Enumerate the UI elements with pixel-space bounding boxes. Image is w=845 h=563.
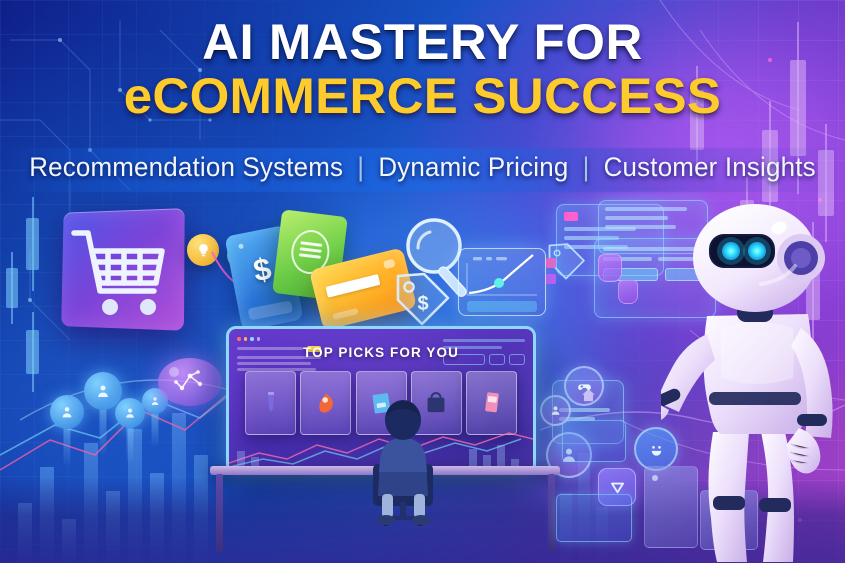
- shopping-cart-icon: [62, 215, 182, 325]
- product-card-4[interactable]: [411, 371, 462, 435]
- floor-gradient: [0, 477, 845, 563]
- server-box-2: [700, 490, 758, 550]
- smiley-icon: [646, 439, 667, 460]
- server-box-1: [644, 466, 698, 548]
- dollar-card-icon: $: [224, 225, 303, 331]
- mini-node-2: [618, 280, 638, 304]
- holo-panel-home: [552, 380, 624, 444]
- headline-line-2: eCOMMERCE SUCCESS: [0, 70, 845, 122]
- tagline-item-2: Dynamic Pricing: [378, 152, 568, 182]
- shopping-cart-card: [61, 208, 184, 331]
- user-icon: [559, 445, 579, 465]
- user-icon: [549, 404, 562, 417]
- background-screen-1: [562, 420, 626, 462]
- check-badge-icon: [608, 478, 627, 497]
- background-screen-2: [556, 494, 632, 542]
- gamepad-icon: [576, 378, 593, 395]
- price-tag-icon: $: [390, 268, 454, 332]
- avatar-pin-3: [115, 398, 145, 460]
- banknote-icon: [272, 209, 348, 300]
- tagline-item-3: Customer Insights: [604, 152, 816, 182]
- tagline-separator-2: |: [576, 152, 596, 182]
- network-icon: [158, 358, 222, 406]
- smiley-badge: [634, 427, 678, 471]
- user-badge-large: [546, 432, 592, 478]
- desk-leg-left: [216, 474, 223, 552]
- headline-line-1: AI MASTERY FOR: [0, 16, 845, 68]
- gold-card-icon: [309, 247, 417, 330]
- avatar-pin-1: [50, 395, 84, 461]
- product-card-2[interactable]: [300, 371, 351, 435]
- svg-text:$: $: [417, 293, 428, 315]
- ai-ecommerce-banner: AI MASTERY FOR eCOMMERCE SUCCESS Recomme…: [0, 0, 845, 563]
- avatar-pin-4: [142, 388, 168, 444]
- monitor-screen-title: TOP PICKS FOR YOU: [229, 345, 533, 360]
- growth-chart-panel: [458, 248, 546, 316]
- tagline-separator-1: |: [351, 152, 371, 182]
- tagline: Recommendation Systems | Dynamic Pricing…: [17, 152, 828, 183]
- product-card-1[interactable]: [245, 371, 296, 435]
- network-bubble: [158, 358, 222, 406]
- chart-legend-swatch-1: [546, 258, 556, 268]
- product-card-row: [245, 371, 517, 435]
- mini-node-1: [598, 254, 622, 282]
- home-icon: [580, 387, 597, 404]
- holo-panel-3: [594, 238, 716, 318]
- desk-leg-right: [548, 474, 555, 552]
- product-card-5[interactable]: [466, 371, 517, 435]
- gamepad-badge: [564, 366, 604, 406]
- headline-block: AI MASTERY FOR eCOMMERCE SUCCESS: [0, 16, 845, 122]
- chart-legend-swatch-2: [546, 274, 556, 284]
- product-card-3[interactable]: [356, 371, 407, 435]
- robot-icon: [661, 196, 845, 563]
- recommendation-monitor[interactable]: TOP PICKS FOR YOU: [226, 326, 536, 474]
- holo-panel-1: [556, 204, 664, 276]
- tagline-item-1: Recommendation Systems: [29, 152, 343, 182]
- lightbulb-icon: [187, 234, 219, 266]
- check-badge: [598, 468, 636, 506]
- discount-tag-icon: [544, 240, 588, 284]
- magnifying-glass-icon: [392, 212, 478, 304]
- holo-panel-2: [598, 200, 708, 254]
- user-badge-small: [540, 395, 571, 426]
- avatar-pin-2: [84, 372, 122, 452]
- dollar-glyph: $: [251, 251, 275, 290]
- growth-chart-icon: [459, 249, 545, 315]
- wifi-icon: [227, 242, 254, 269]
